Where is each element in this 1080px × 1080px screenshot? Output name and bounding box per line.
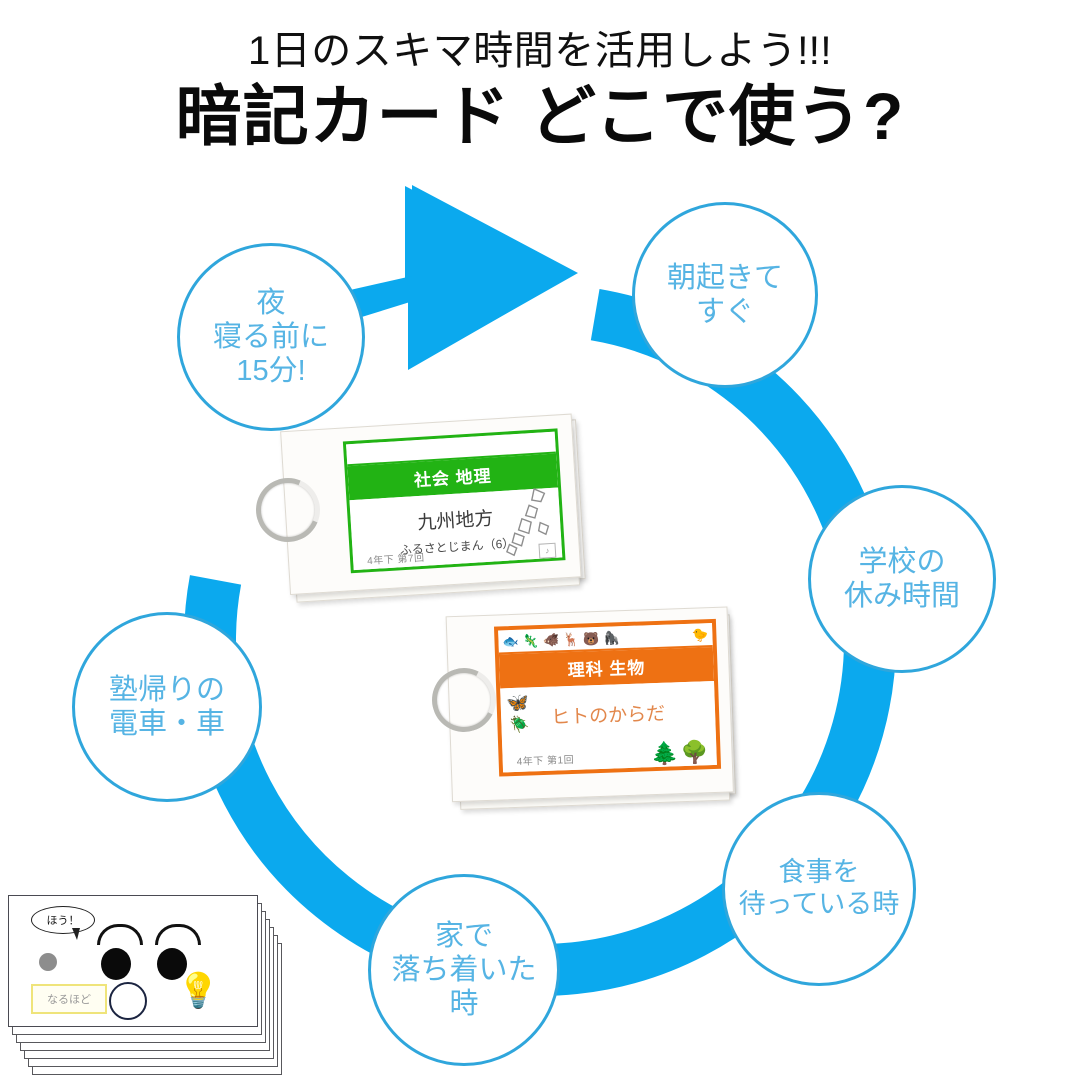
flashcard-bundle-rika[interactable]: 🐟 🦎 🐗 🦌 🐻 🦍 🐤 理科 生物 🦋 🪲 ヒトのからだ 4年下 第1回 🌲… bbox=[445, 600, 754, 880]
flashcard-rika[interactable]: 🐟 🦎 🐗 🦌 🐻 🦍 🐤 理科 生物 🦋 🪲 ヒトのからだ 4年下 第1回 🌲… bbox=[494, 619, 721, 777]
beetle-icon: 🪲 bbox=[509, 717, 529, 734]
card-body: 九州地方 ふるさとじまん（6） 4年下 第7回 ♪ bbox=[349, 487, 562, 573]
bird-icon: 🐤 bbox=[692, 628, 709, 642]
deer-icon: 🦌 bbox=[563, 632, 580, 646]
right-arrow-icon bbox=[345, 185, 578, 370]
cycle-node-night[interactable]: 夜 寝る前に 15分! bbox=[177, 243, 365, 431]
note-icon: ♪ bbox=[538, 543, 556, 559]
speech-bubble: ほう！ bbox=[31, 906, 95, 934]
bear-icon: 🐻 bbox=[583, 631, 600, 645]
card-body: 🦋 🪲 ヒトのからだ 4年下 第1回 🌲 🌳 bbox=[500, 681, 717, 774]
lightbulb-icon: 💡 bbox=[177, 974, 219, 1008]
card-title: ヒトのからだ bbox=[500, 681, 715, 731]
cycle-node-home[interactable]: 家で 落ち着いた 時 bbox=[368, 874, 560, 1066]
grey-dot-icon bbox=[39, 953, 57, 971]
lizard-icon: 🦎 bbox=[522, 634, 539, 648]
right-eyebrow-icon bbox=[155, 924, 201, 945]
cycle-node-commute[interactable]: 塾帰りの 電車・車 bbox=[72, 612, 262, 802]
cycle-node-meal[interactable]: 食事を 待っている時 bbox=[722, 792, 916, 986]
left-eye-icon bbox=[101, 948, 131, 980]
poster-canvas: 1日のスキマ時間を活用しよう!!! 暗記カード どこで使う? 夜 寝る前に 15… bbox=[0, 0, 1080, 1080]
flashcard-bundle-shakai[interactable]: 社会 地理 九州地方 ふるさとじまん（6） 4年下 第7回 ♪ bbox=[280, 409, 592, 637]
mouth-icon bbox=[109, 982, 147, 1020]
flashcard-shakai[interactable]: 社会 地理 九州地方 ふるさとじまん（6） 4年下 第7回 ♪ bbox=[343, 428, 566, 573]
pine-tree-icon: 🌲 bbox=[651, 742, 679, 765]
face-card-front[interactable]: ほう！ なるほど 💡 bbox=[8, 895, 258, 1027]
cycle-node-school[interactable]: 学校の 休み時間 bbox=[808, 485, 996, 673]
naruhodo-tag: なるほど bbox=[31, 984, 107, 1014]
gorilla-icon: 🦍 bbox=[603, 631, 620, 645]
card-footer: 4年下 第7回 bbox=[367, 549, 425, 567]
butterfly-icon: 🦋 bbox=[506, 693, 529, 712]
card-footer: 4年下 第1回 bbox=[516, 751, 574, 768]
broadleaf-tree-icon: 🌳 bbox=[681, 741, 709, 764]
left-eyebrow-icon bbox=[97, 924, 143, 945]
cycle-node-morning[interactable]: 朝起きて すぐ bbox=[632, 202, 818, 388]
fish-icon: 🐟 bbox=[502, 634, 519, 648]
boar-icon: 🐗 bbox=[543, 633, 560, 647]
